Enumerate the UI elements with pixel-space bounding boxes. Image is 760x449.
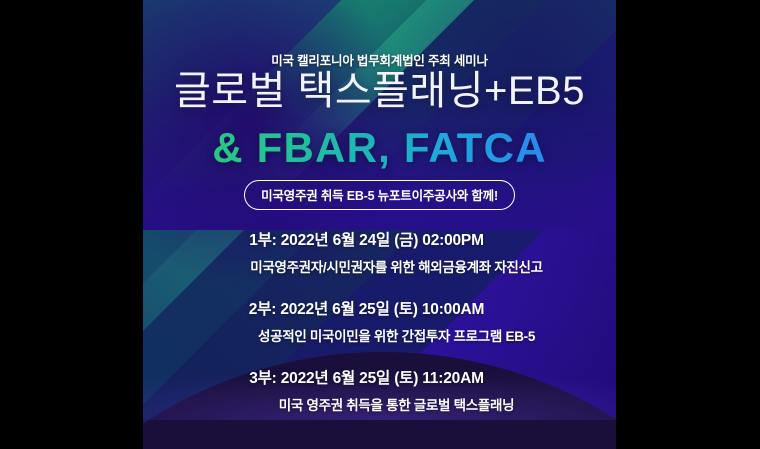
schedule-session-datetime: 1부: 2022년 6월 24일 (금) 02:00PM xyxy=(143,228,616,250)
poster-badge-container: 미국영주권 취득 EB-5 뉴포트이주공사와 함께! xyxy=(143,180,616,210)
poster-artwork: 미국 캘리포니아 법무회계법인 주최 세미나 글로벌 택스플래닝+EB5 & F… xyxy=(143,0,616,449)
poster-content: 미국 캘리포니아 법무회계법인 주최 세미나 글로벌 택스플래닝+EB5 & F… xyxy=(143,0,616,449)
schedule-item: 1부: 2022년 6월 24일 (금) 02:00PM 미국영주권자/시민권자… xyxy=(143,228,616,276)
schedule-session-datetime: 3부: 2022년 6월 25일 (토) 11:20AM xyxy=(143,366,616,388)
schedule-session-topic: 미국영주권자/시민권자를 위한 해외금융계좌 자진신고 xyxy=(177,256,616,276)
poster-title-accent: & FBAR, FATCA xyxy=(143,125,616,171)
schedule-item: 3부: 2022년 6월 25일 (토) 11:20AM 미국 영주권 취득을 … xyxy=(143,366,616,414)
poster-title-main: 글로벌 택스플래닝+EB5 xyxy=(143,69,616,114)
schedule-item: 2부: 2022년 6월 25일 (토) 10:00AM 성공적인 미국이민을 … xyxy=(143,297,616,345)
poster-kicker: 미국 캘리포니아 법무회계법인 주최 세미나 xyxy=(143,50,616,69)
schedule-session-topic: 미국 영주권 취득을 통한 글로벌 택스플래닝 xyxy=(177,394,616,414)
letterbox-bar-right xyxy=(616,0,760,449)
poster-badge: 미국영주권 취득 EB-5 뉴포트이주공사와 함께! xyxy=(244,180,515,210)
schedule-session-datetime: 2부: 2022년 6월 25일 (토) 10:00AM xyxy=(143,297,616,319)
schedule-list: 1부: 2022년 6월 24일 (금) 02:00PM 미국영주권자/시민권자… xyxy=(143,228,616,435)
poster-root: 미국 캘리포니아 법무회계법인 주최 세미나 글로벌 택스플래닝+EB5 & F… xyxy=(0,0,760,449)
letterbox-bar-left xyxy=(0,0,143,449)
schedule-session-topic: 성공적인 미국이민을 위한 간접투자 프로그램 EB-5 xyxy=(177,325,616,345)
